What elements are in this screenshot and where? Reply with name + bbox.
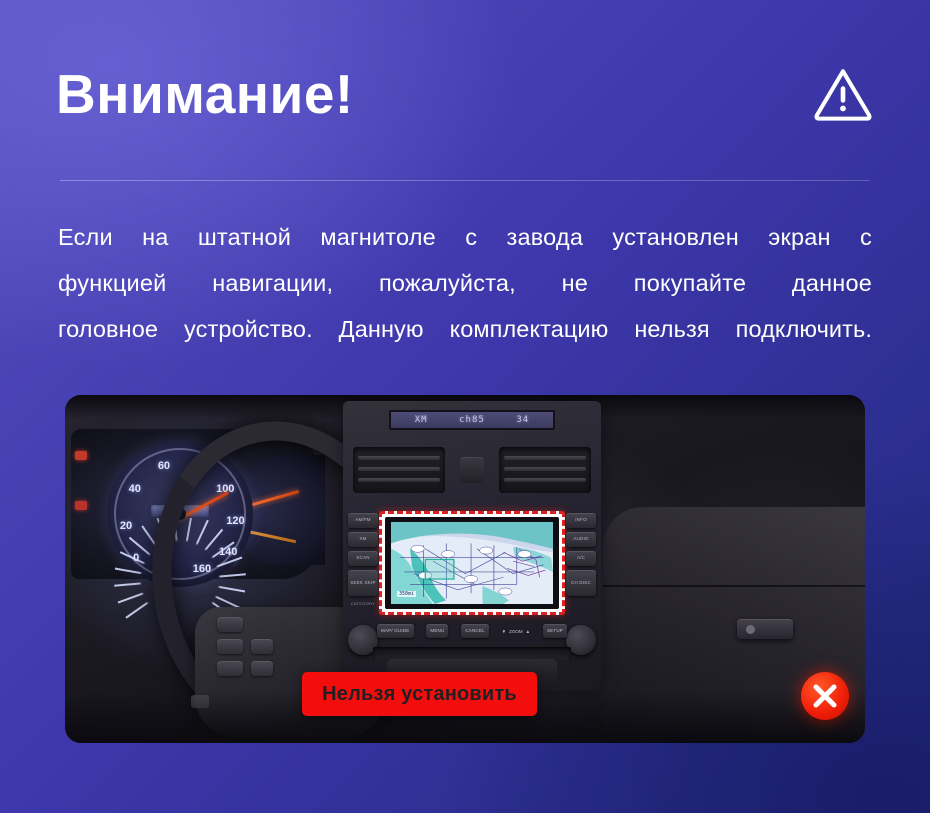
notice-text: Если на штатной магнитоле с завода устан…: [58, 214, 872, 352]
console-buttons-right: INFO AUDIO A/C CH DISC: [566, 513, 596, 596]
banner-label: Нельзя установить: [322, 683, 517, 706]
label-zoom: ZOOM: [509, 629, 523, 634]
header-divider: [60, 180, 870, 181]
zoom-controls: ▼ ZOOM ▲: [502, 629, 530, 634]
attention-notice-page: Внимание! Если на штатной магнитоле с за…: [0, 0, 930, 813]
notice-word: не: [562, 260, 588, 306]
steering-wheel-button[interactable]: [217, 639, 243, 654]
zoom-in-icon[interactable]: ▲: [526, 629, 530, 634]
page-title: Внимание!: [56, 67, 354, 122]
notice-word: экран: [768, 214, 830, 260]
button-scan[interactable]: SCAN: [348, 551, 378, 566]
warning-lamp-icon: [75, 451, 87, 460]
warning-lamp-icon: [75, 501, 87, 510]
button-map-guide[interactable]: MAP/ GUIDE: [377, 624, 414, 638]
lcd-preset-text: 34: [516, 415, 529, 425]
warning-triangle-icon: [812, 65, 874, 123]
air-vent-left[interactable]: [353, 447, 445, 493]
glovebox-seam: [603, 585, 865, 587]
notice-word: с: [465, 214, 477, 260]
steering-wheel-button[interactable]: [251, 639, 273, 654]
notice-word: функцией: [58, 260, 166, 306]
navigation-screen-highlight: 350mi: [379, 511, 565, 615]
notice-line-2: функцией навигации, пожалуйста, не покуп…: [58, 260, 872, 306]
notice-word: установлен: [612, 214, 739, 260]
map-scale-label: 350mi: [397, 591, 416, 597]
air-vent-right[interactable]: [499, 447, 591, 493]
navigation-map-screen[interactable]: 350mi: [391, 522, 553, 604]
button-seek-skip[interactable]: SEEK SKIP: [348, 570, 378, 596]
notice-word: магнитоле: [320, 214, 436, 260]
hazard-button[interactable]: [460, 457, 484, 483]
notice-word: навигации,: [212, 260, 333, 306]
notice-line-3: головное устройство. Данную комплектацию…: [58, 306, 872, 352]
notice-line-1: Если на штатной магнитоле с завода устан…: [58, 214, 872, 260]
red-x-circle-icon: [801, 672, 849, 720]
button-setup[interactable]: SETUP: [543, 624, 567, 638]
steering-wheel-button[interactable]: [217, 661, 243, 676]
center-console: XM ch85 34: [343, 401, 601, 691]
notice-word: с: [860, 214, 872, 260]
button-info[interactable]: INFO: [566, 513, 596, 528]
button-am-fm[interactable]: AM/FM: [348, 513, 378, 528]
label-category: CATEGORY: [348, 601, 378, 606]
console-buttons-left: AM/FM XM SCAN SEEK SKIP CATEGORY: [348, 513, 378, 606]
glovebox-handle[interactable]: [737, 619, 793, 639]
lcd-channel-text: ch85: [459, 415, 485, 425]
button-cancel[interactable]: CANCEL: [461, 624, 488, 638]
gauge-tick-label: 60: [158, 460, 170, 472]
button-xm[interactable]: XM: [348, 532, 378, 547]
notice-word: штатной: [198, 214, 291, 260]
button-ac[interactable]: A/C: [566, 551, 596, 566]
notice-word: завода: [507, 214, 584, 260]
console-buttons-bottom: MAP/ GUIDE MENU CANCEL ▼ ZOOM ▲ SETUP: [377, 623, 567, 639]
zoom-out-icon[interactable]: ▼: [502, 629, 506, 634]
notice-word: пожалуйста,: [379, 260, 516, 306]
notice-word: данное: [792, 260, 872, 306]
page-header: Внимание!: [56, 48, 874, 140]
radio-lcd-display: XM ch85 34: [389, 410, 555, 430]
steering-wheel-button[interactable]: [251, 661, 273, 676]
gauge-tick-label: 20: [120, 520, 132, 532]
notice-word: на: [142, 214, 168, 260]
cannot-install-banner: Нельзя установить: [302, 672, 537, 716]
notice-word: Если: [58, 214, 113, 260]
gauge-tick-label: 0: [133, 552, 139, 564]
button-audio[interactable]: AUDIO: [566, 532, 596, 547]
air-vents: [353, 443, 591, 497]
gauge-tick-label: 40: [129, 483, 141, 495]
button-ch-disc[interactable]: CH DISC: [566, 570, 596, 596]
button-menu[interactable]: MENU: [426, 624, 448, 638]
lcd-source-text: XM: [415, 415, 428, 425]
steering-wheel-button[interactable]: [217, 617, 243, 632]
notice-word: покупайте: [634, 260, 746, 306]
